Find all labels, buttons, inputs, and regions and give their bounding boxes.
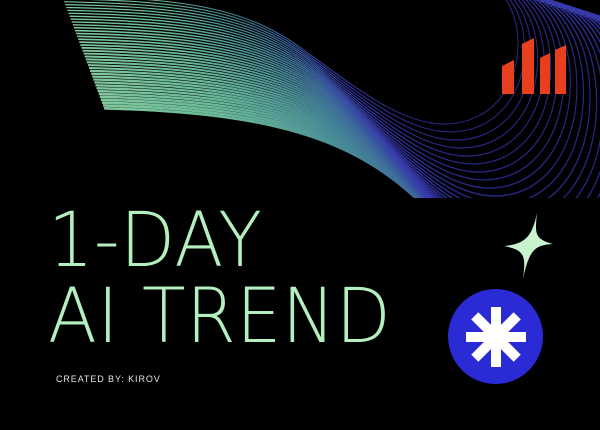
headline-line-1: 1-DAY (48, 203, 443, 277)
poster-canvas: 1-DAY AI TREND CREATED BY: KIROV (0, 0, 600, 430)
orange-bar-logo-icon (498, 36, 568, 94)
headline-line-2: AI TREND (48, 279, 443, 353)
abstract-flowing-lines-art (0, 0, 600, 198)
eight-point-asterisk-icon (465, 306, 527, 368)
credit-text: CREATED BY: KIROV (56, 374, 161, 384)
four-point-sparkle-icon (501, 211, 561, 281)
page-title: 1-DAY AI TREND (48, 203, 468, 353)
